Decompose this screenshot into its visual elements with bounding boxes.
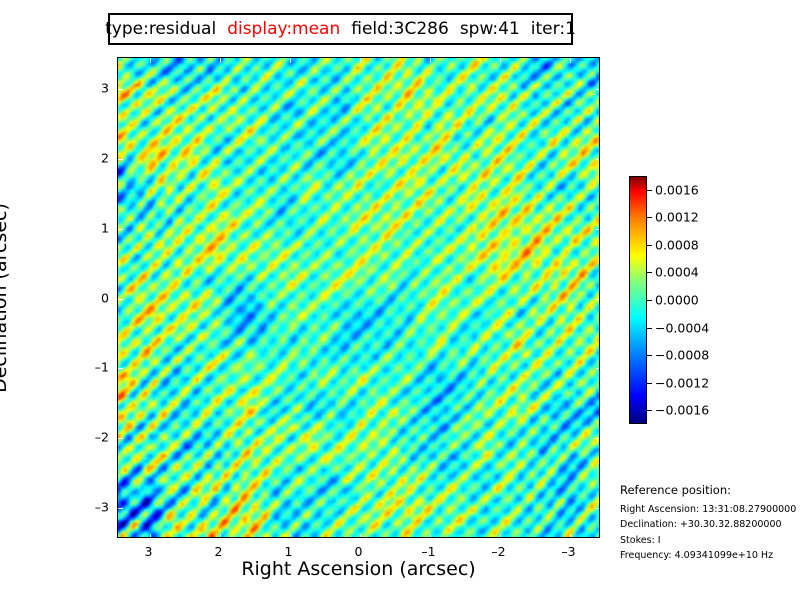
y-axis-tick-mark xyxy=(118,508,123,509)
y-axis-tick-mark xyxy=(118,89,123,90)
heatmap-canvas xyxy=(118,58,599,537)
y-axis-tick-label: 0 xyxy=(73,290,109,305)
x-axis-tick-label: 0 xyxy=(355,544,363,559)
x-axis-tick-mark xyxy=(220,534,221,538)
colorbar-tick-label: −0.0016 xyxy=(655,403,709,418)
colorbar[interactable] xyxy=(629,176,647,424)
plot-title-box: type:residual display:mean field:3C286 s… xyxy=(108,13,573,45)
colorbar-tick-label: −0.0008 xyxy=(655,348,709,363)
x-axis-tick-mark xyxy=(290,534,291,538)
y-axis-tick-mark xyxy=(596,159,600,160)
y-axis-tick-mark xyxy=(118,299,123,300)
y-axis-tick-label: –3 xyxy=(73,499,109,514)
y-axis-tick-mark xyxy=(118,438,123,439)
reference-stokes: Stokes: I xyxy=(620,533,800,548)
residual-image-plot[interactable] xyxy=(117,57,600,538)
colorbar-tick-mark xyxy=(647,410,652,411)
reference-right-ascension: Right Ascension: 13:31:08.27900000 xyxy=(620,502,800,517)
y-axis-tick-label: 1 xyxy=(73,220,109,235)
x-axis-tick-label: –2 xyxy=(491,544,505,559)
x-axis-tick-mark xyxy=(570,534,571,538)
x-axis-tick-mark xyxy=(500,58,501,63)
x-axis-tick-label: –1 xyxy=(421,544,435,559)
title-segment-field: field:3C286 xyxy=(351,21,449,38)
colorbar-tick-label: −0.0012 xyxy=(655,375,709,390)
colorbar-tick-mark xyxy=(647,190,652,191)
colorbar-tick-mark xyxy=(647,217,652,218)
x-axis-tick-label: 3 xyxy=(145,544,153,559)
colorbar-tick-mark xyxy=(647,300,652,301)
x-axis-tick-mark xyxy=(220,58,221,63)
colorbar-tick-mark xyxy=(647,355,652,356)
x-axis-tick-mark xyxy=(150,534,151,538)
title-segment-display: display:mean xyxy=(227,21,340,38)
y-axis-title: Declination (arcsec) xyxy=(0,168,11,428)
y-axis-tick-mark xyxy=(596,229,600,230)
colorbar-gradient xyxy=(629,176,647,424)
x-axis-tick-label: 1 xyxy=(285,544,293,559)
reference-position-heading: Reference position: xyxy=(620,483,800,497)
y-axis-tick-label: 3 xyxy=(73,81,109,96)
x-axis-tick-mark xyxy=(570,58,571,63)
title-segment-spw: spw:41 xyxy=(460,21,520,38)
x-axis-tick-mark xyxy=(430,58,431,63)
y-axis-tick-mark xyxy=(596,89,600,90)
colorbar-tick-mark xyxy=(647,328,652,329)
x-axis-tick-mark xyxy=(360,534,361,538)
y-axis-tick-label: –2 xyxy=(73,429,109,444)
colorbar-tick-label: 0.0004 xyxy=(655,265,699,280)
y-axis-tick-mark xyxy=(596,299,600,300)
x-axis-title: Right Ascension (arcsec) xyxy=(117,558,600,580)
y-axis-tick-mark xyxy=(596,368,600,369)
y-axis-tick-label: –1 xyxy=(73,360,109,375)
colorbar-tick-mark xyxy=(647,272,652,273)
reference-declination: Declination: +30.30.32.88200000 xyxy=(620,517,800,532)
reference-frequency: Frequency: 4.09341099e+10 Hz xyxy=(620,548,800,563)
y-axis-tick-mark xyxy=(118,368,123,369)
x-axis-tick-mark xyxy=(500,534,501,538)
y-axis-tick-mark xyxy=(118,159,123,160)
colorbar-tick-label: 0.0000 xyxy=(655,293,699,308)
title-segment-type: type:residual xyxy=(105,21,216,38)
y-axis-tick-mark xyxy=(118,229,123,230)
colorbar-tick-mark xyxy=(647,245,652,246)
y-axis-tick-mark xyxy=(596,508,600,509)
x-axis-tick-mark xyxy=(290,58,291,63)
title-segment-iter: iter:1 xyxy=(531,21,576,38)
reference-position-block: Reference position: Right Ascension: 13:… xyxy=(620,483,800,564)
colorbar-tick-label: 0.0012 xyxy=(655,210,699,225)
colorbar-tick-mark xyxy=(647,383,652,384)
colorbar-tick-label: 0.0016 xyxy=(655,182,699,197)
y-axis-tick-mark xyxy=(596,438,600,439)
colorbar-tick-label: −0.0004 xyxy=(655,320,709,335)
x-axis-tick-mark xyxy=(150,58,151,63)
x-axis-tick-mark xyxy=(360,58,361,63)
colorbar-tick-label: 0.0008 xyxy=(655,237,699,252)
x-axis-tick-mark xyxy=(430,534,431,538)
y-axis-tick-label: 2 xyxy=(73,151,109,166)
x-axis-tick-label: –3 xyxy=(561,544,575,559)
x-axis-tick-label: 2 xyxy=(215,544,223,559)
plot-title-text: type:residual display:mean field:3C286 s… xyxy=(105,21,576,38)
